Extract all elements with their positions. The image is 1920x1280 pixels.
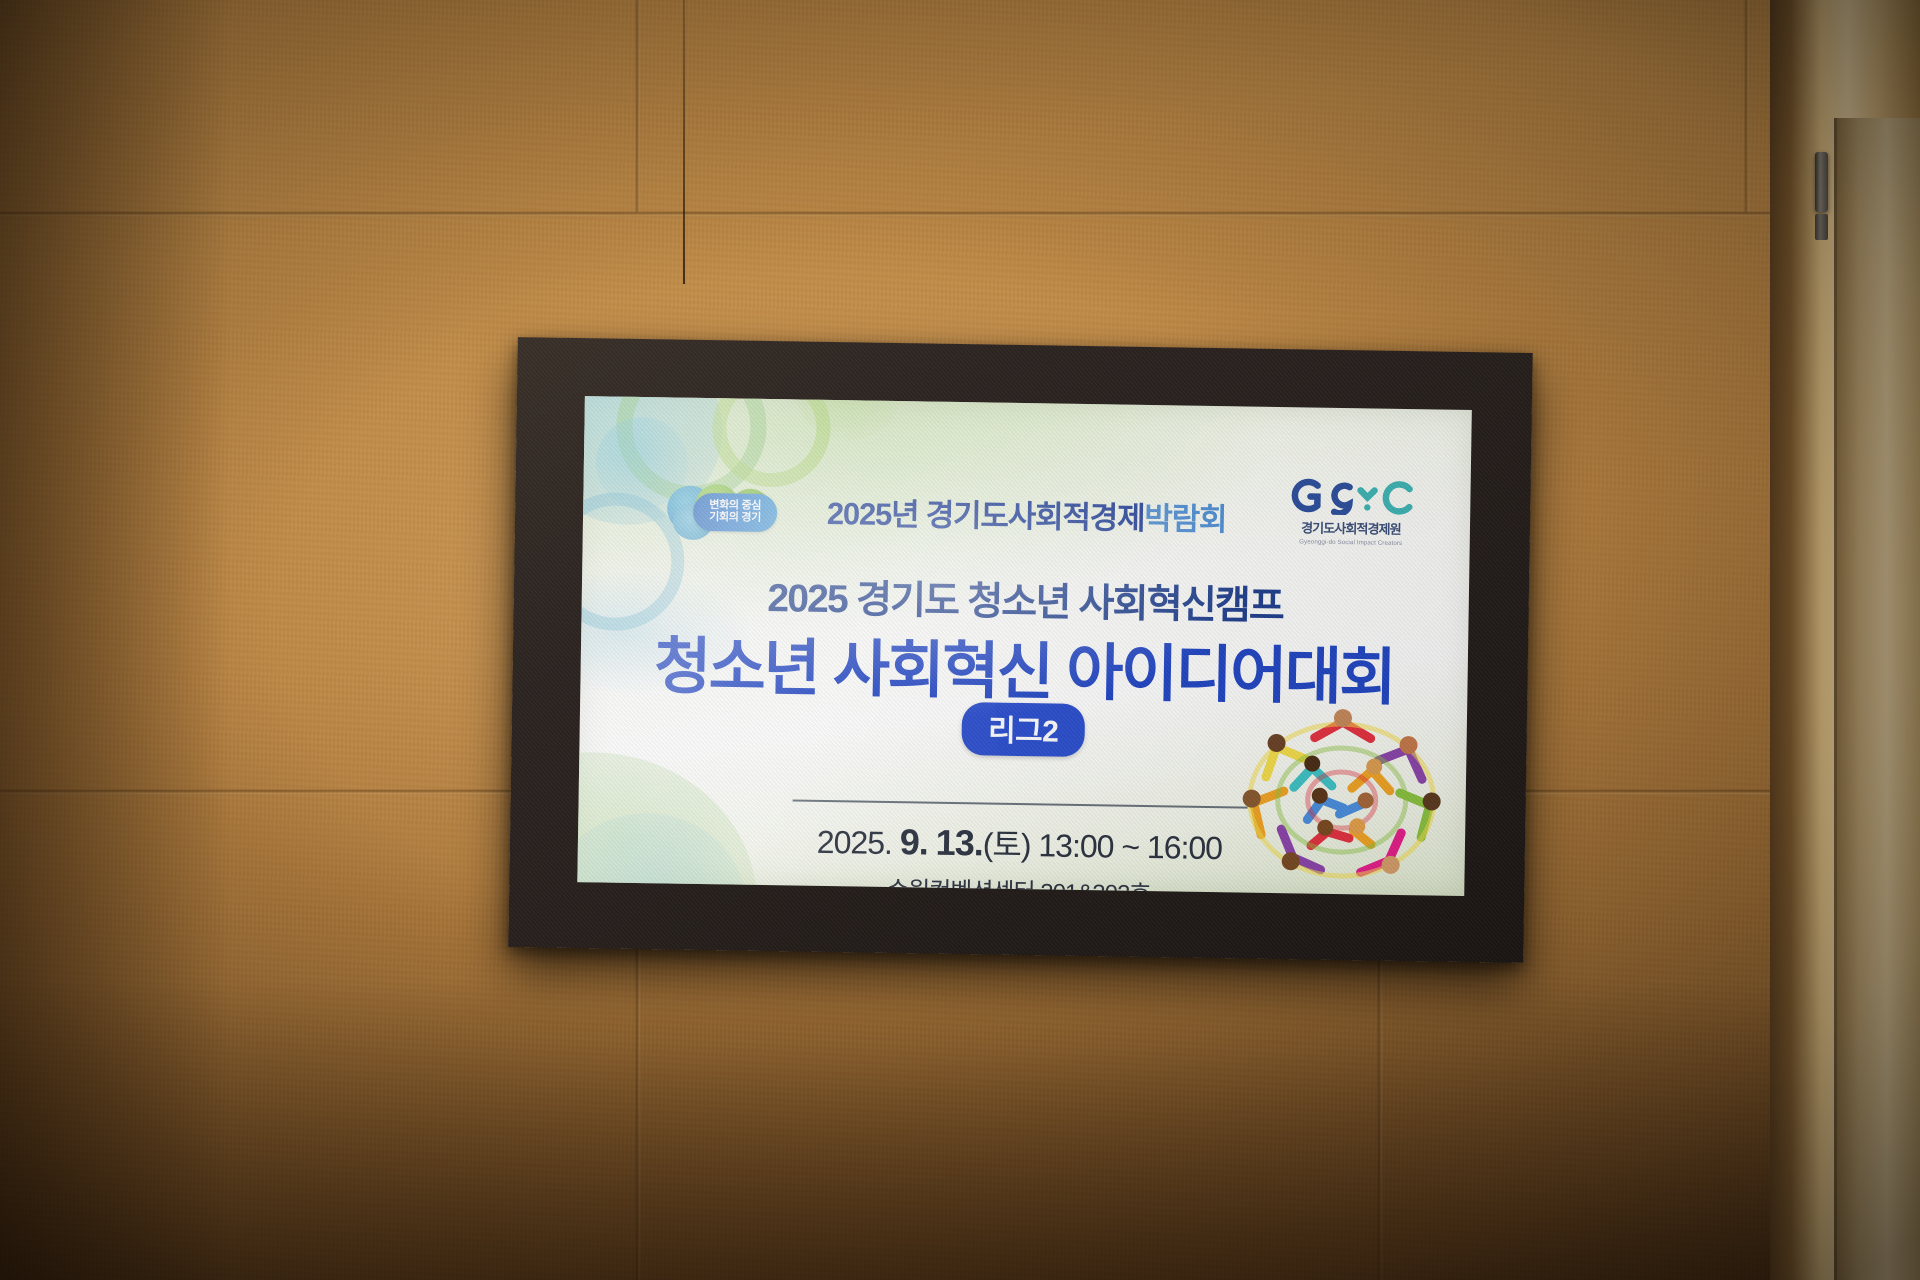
- people-circle-svg-icon: [1234, 706, 1449, 889]
- display-frame: 변화의 중심 기회의 경기 2025년 경기도사회적경제박람회: [508, 337, 1532, 963]
- gsic-korean-name: 경기도사회적경제원: [1276, 517, 1426, 538]
- time-end: 16:00: [1147, 829, 1223, 866]
- date-month: 9.: [900, 821, 929, 862]
- event-info-block: 2025. 9. 13.(토) 13:00 ~ 16:00 수원컨벤션센터 30…: [791, 799, 1248, 896]
- fair-title-main: 2025년 경기도사회적경제: [827, 496, 1145, 536]
- league-badge-label: 리그2: [962, 702, 1085, 757]
- event-venue: 수원컨벤션센터 301&302호: [791, 868, 1246, 896]
- date-day: 13.: [935, 822, 983, 864]
- fair-title-accent: 박람회: [1144, 501, 1227, 537]
- date-year: 2025.: [817, 824, 893, 861]
- time-separator: ~: [1121, 829, 1139, 865]
- people-circle-illustration: [1234, 706, 1449, 889]
- display-assembly: 변화의 중심 기회의 경기 2025년 경기도사회적경제박람회: [0, 0, 1920, 1280]
- event-datetime: 2025. 9. 13.(토) 13:00 ~ 16:00: [792, 816, 1248, 869]
- date-weekday: (토): [982, 826, 1030, 863]
- time-start: 13:00: [1038, 827, 1114, 864]
- display-screen[interactable]: 변화의 중심 기회의 경기 2025년 경기도사회적경제박람회: [577, 396, 1472, 896]
- gsic-english-name: Gyeonggi-do Social Impact Creators: [1276, 538, 1426, 547]
- gsic-logo: 경기도사회적경제원 Gyeonggi-do Social Impact Crea…: [1276, 475, 1427, 547]
- gsic-wordmark-icon: [1276, 475, 1427, 517]
- gsic-svg-icon: [1287, 476, 1416, 516]
